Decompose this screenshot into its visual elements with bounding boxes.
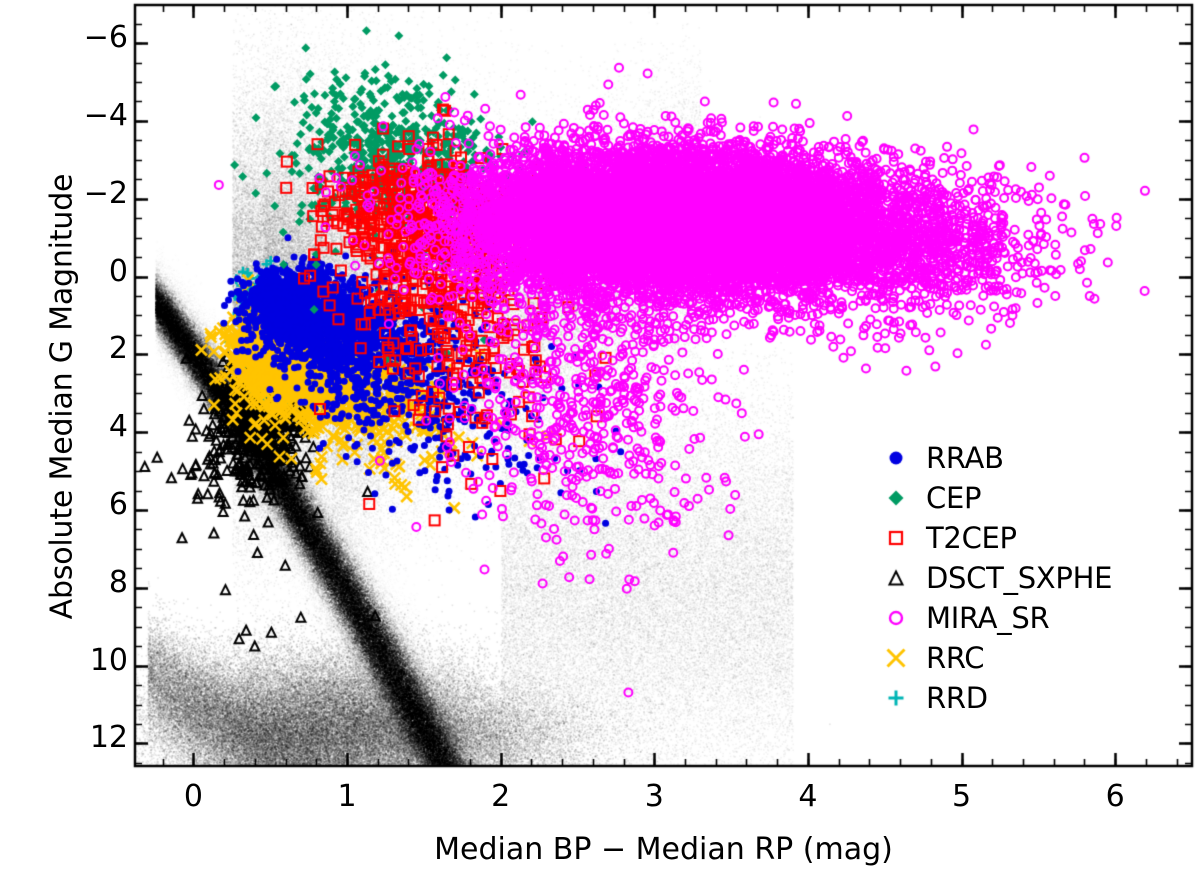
y-tick-label: 4 [109,412,128,442]
chart-legend: RRAB CEP T2CEP DSCT_SXPHE MIRA_SR RRC RR… [880,438,1198,718]
y-tick-label: −4 [84,101,128,131]
legend-item-t2cep[interactable]: T2CEP [880,518,1198,558]
y-axis-label: Absolute Median G Magnitude [45,17,80,777]
y-tick-label: −6 [84,23,128,53]
legend-label-rrab: RRAB [926,441,1004,475]
legend-item-dsct-sxphe[interactable]: DSCT_SXPHE [880,558,1198,598]
chart-root: Absolute Median G Magnitude Median BP − … [0,0,1200,878]
y-tick-label: 0 [109,257,128,287]
legend-marker-dsct-sxphe-open-triangle-icon [880,558,926,598]
legend-label-t2cep: T2CEP [926,521,1017,555]
x-tick-label: 2 [491,782,510,812]
x-tick-label: 6 [1106,782,1125,812]
legend-item-rrc[interactable]: RRC [880,638,1198,678]
legend-label-rrc: RRC [926,641,984,675]
legend-marker-t2cep-open-square-icon [880,518,926,558]
legend-item-rrab[interactable]: RRAB [880,438,1198,478]
y-tick-label: 10 [90,646,128,676]
legend-marker-mira-sr-open-circle-icon [880,598,926,638]
y-tick-label: 8 [109,568,128,598]
y-tick-label: −2 [84,179,128,209]
x-tick-label: 0 [184,782,203,812]
legend-label-dsct-sxphe: DSCT_SXPHE [926,561,1112,595]
legend-marker-rrab-filled-circle-icon [880,438,926,478]
y-tick-label: 12 [90,723,128,753]
legend-marker-rrc-cross-x-icon [880,638,926,678]
legend-item-cep[interactable]: CEP [880,478,1198,518]
y-tick-label: 6 [109,490,128,520]
x-tick-label: 3 [645,782,664,812]
legend-label-mira-sr: MIRA_SR [926,601,1049,635]
legend-label-cep: CEP [926,481,981,515]
legend-label-rrd: RRD [926,681,988,715]
legend-item-rrd[interactable]: RRD [880,678,1198,718]
legend-marker-rrd-plus-icon [880,678,926,718]
x-axis-label: Median BP − Median RP (mag) [135,832,1192,867]
y-tick-label: 2 [109,334,128,364]
legend-item-mira-sr[interactable]: MIRA_SR [880,598,1198,638]
x-tick-label: 5 [952,782,971,812]
x-tick-label: 4 [798,782,817,812]
x-tick-label: 1 [337,782,356,812]
legend-marker-cep-filled-diamond-icon [880,478,926,518]
